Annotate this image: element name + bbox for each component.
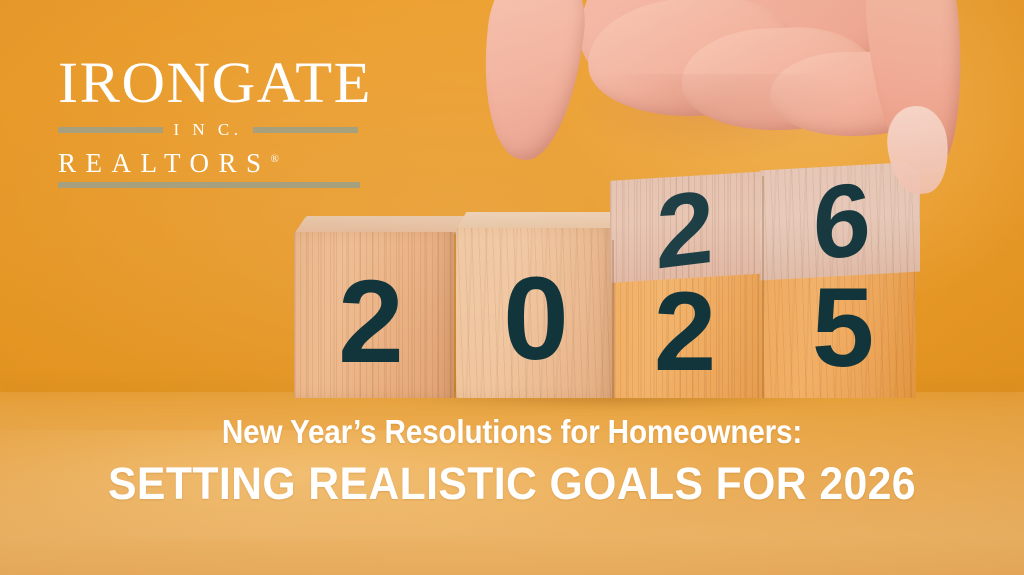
registered-trademark-icon: ®	[271, 153, 279, 165]
logo-realtors-row: REALTORS®	[58, 145, 358, 178]
block-digit-label: 0	[503, 260, 569, 378]
headline-block: New Year’s Resolutions for Homeowners: S…	[0, 412, 1024, 512]
irongate-logo[interactable]: IRONGATE I N C. REALTORS®	[58, 54, 378, 174]
headline-subtitle: New Year’s Resolutions for Homeowners:	[51, 412, 973, 452]
logo-rule-left	[58, 127, 163, 133]
logo-inc-label: I N C.	[171, 121, 244, 138]
block-digit-label: 5	[812, 272, 874, 384]
headline-title: SETTING REALISTIC GOALS FOR 2026	[26, 456, 999, 512]
logo-realtors-label: REALTORS	[58, 148, 271, 178]
logo-inc-row: I N C.	[58, 121, 358, 138]
block-digit-label: 2	[338, 263, 404, 381]
marketing-banner: 2 0 2 5 2	[0, 0, 1024, 575]
block-digit-label: 2	[654, 276, 716, 388]
logo-wordmark: IRONGATE	[58, 54, 391, 112]
logo-rule-right	[253, 127, 358, 133]
logo-rule-bottom	[58, 182, 360, 188]
